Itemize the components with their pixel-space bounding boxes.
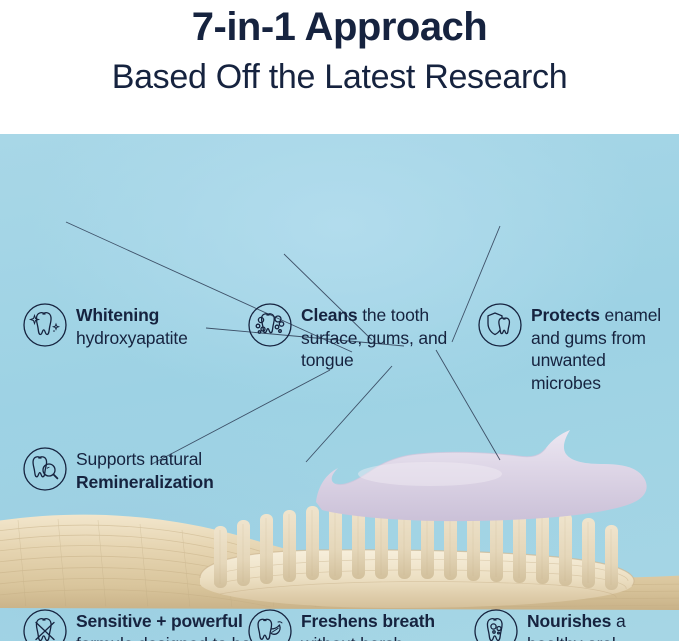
- callout-remineralization[interactable]: Supports natural Remineralization: [22, 444, 267, 493]
- page-title: 7-in-1 Approach: [0, 2, 679, 50]
- callout-rest: Supports natural: [76, 449, 202, 469]
- callout-text: Supports natural Remineralization: [76, 444, 267, 493]
- callout-text: Freshens breath without harsh, artificia…: [301, 606, 462, 641]
- sensitive-tooth-icon: [22, 608, 68, 641]
- tooth-magnifier-icon: [22, 446, 68, 492]
- callout-sensitive[interactable]: Sensitive + powerful formula designed to…: [22, 606, 272, 641]
- callout-bold: Sensitive + powerful: [76, 611, 243, 631]
- callout-cleans[interactable]: Cleans the tooth surface, gums, and tong…: [247, 300, 457, 372]
- callout-whitening[interactable]: Whitening hydroxyapatite: [22, 300, 257, 349]
- tooth-bubbles-icon: [247, 302, 293, 348]
- callout-bold: Cleans: [301, 305, 358, 325]
- callout-bold: Protects: [531, 305, 600, 325]
- callout-freshens[interactable]: Freshens breath without harsh, artificia…: [247, 606, 462, 641]
- callout-nourishes[interactable]: Nourishes a healthy oral microbiome: [473, 606, 673, 641]
- product-photo-panel: Whitening hydroxyapatite Cleans the toot…: [0, 134, 679, 641]
- callout-bold: Whitening: [76, 305, 159, 325]
- callout-text: Cleans the tooth surface, gums, and tong…: [301, 300, 457, 372]
- tooth-microbiome-icon: [473, 608, 519, 641]
- callout-rest: hydroxyapatite: [76, 328, 188, 348]
- callout-rest: without harsh, artificial flavors: [301, 634, 414, 641]
- callout-rest: formula designed to be easier on teeth a…: [76, 634, 251, 641]
- header: 7-in-1 Approach Based Off the Latest Res…: [0, 0, 679, 134]
- callout-text: Sensitive + powerful formula designed to…: [76, 606, 272, 641]
- callout-text: Whitening hydroxyapatite: [76, 300, 257, 349]
- page-subtitle: Based Off the Latest Research: [0, 50, 679, 98]
- callout-bold: Nourishes: [527, 611, 611, 631]
- shield-tooth-icon: [477, 302, 523, 348]
- tooth-sparkle-icon: [22, 302, 68, 348]
- callout-bold: Freshens breath: [301, 611, 435, 631]
- callout-text: Nourishes a healthy oral microbiome: [527, 606, 673, 641]
- callout-protects[interactable]: Protects enamel and gums from unwanted m…: [477, 300, 662, 394]
- callout-bold: Remineralization: [76, 472, 214, 492]
- tooth-mint-icon: [247, 608, 293, 641]
- infographic-root: 7-in-1 Approach Based Off the Latest Res…: [0, 0, 679, 641]
- callout-text: Protects enamel and gums from unwanted m…: [531, 300, 662, 394]
